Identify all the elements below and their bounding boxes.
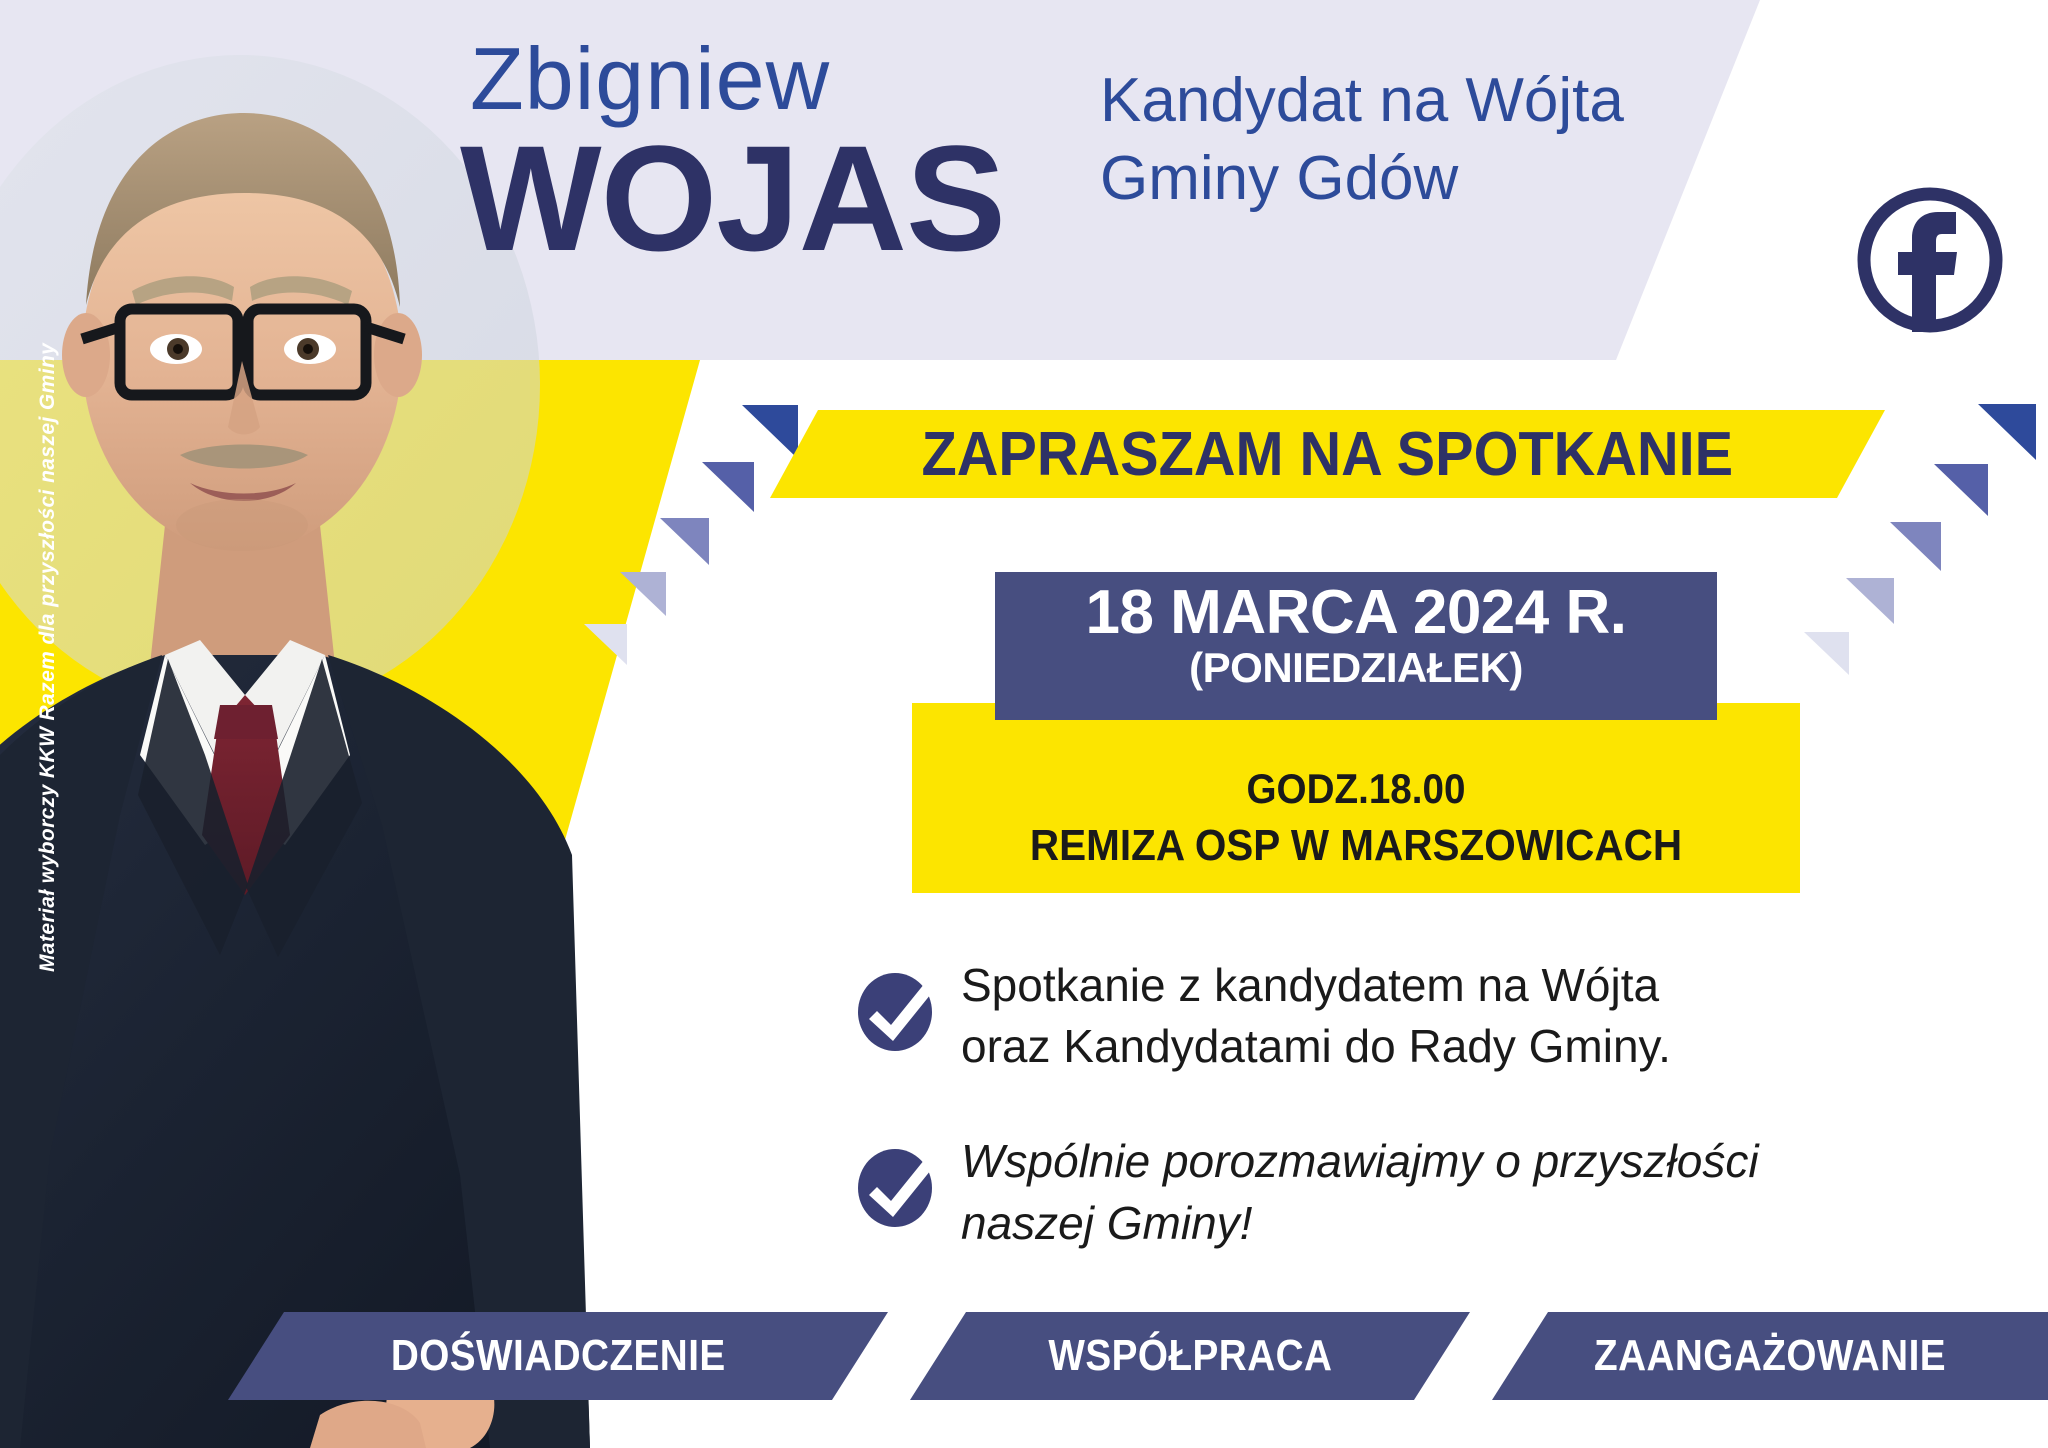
campaign-poster: Materiał wyborczy KKW Razem dla przyszło… xyxy=(0,0,2048,1448)
event-place: REMIZA OSP W MARSZOWICACH xyxy=(948,821,1765,871)
values-bar: DOŚWIADCZENIE WSPÓŁPRACA ZAANGAŻOWANIE xyxy=(0,1312,2048,1400)
decorative-triangle xyxy=(1978,404,2036,460)
decorative-triangle xyxy=(620,572,666,616)
list-item-line-2: oraz Kandydatami do Rady Gminy. xyxy=(961,1016,1671,1077)
decorative-triangle xyxy=(742,405,798,459)
check-circle-icon xyxy=(855,965,947,1051)
event-time: GODZ.18.00 xyxy=(948,765,1765,813)
invite-banner-label: ZAPRASZAM NA SPOTKANIE xyxy=(922,419,1734,490)
value-label: ZAANGAŻOWANIE xyxy=(1594,1331,1946,1381)
list-item-line-1: Spotkanie z kandydatem na Wójta xyxy=(961,955,1671,1016)
event-date: 18 MARCA 2024 R. xyxy=(995,580,1717,645)
candidate-role: Kandydat na Wójta Gminy Gdów xyxy=(1100,62,1624,217)
facebook-icon[interactable] xyxy=(1850,180,2010,340)
decorative-triangle xyxy=(1890,522,1941,571)
decorative-triangle xyxy=(584,624,627,665)
list-item: Spotkanie z kandydatem na Wójta oraz Kan… xyxy=(855,955,1975,1077)
list-item-text: Wspólnie porozmawiajmy o przyszłości nas… xyxy=(961,1131,1759,1253)
list-item-line-2: naszej Gminy! xyxy=(961,1193,1759,1254)
value-segment-experience: DOŚWIADCZENIE xyxy=(228,1312,888,1400)
role-line-1: Kandydat na Wójta xyxy=(1100,62,1624,140)
facebook-glyph xyxy=(1850,180,2010,340)
role-line-2: Gminy Gdów xyxy=(1100,140,1624,218)
list-item-line-1: Wspólnie porozmawiajmy o przyszłości xyxy=(961,1131,1759,1192)
bullet-list: Spotkanie z kandydatem na Wójta oraz Kan… xyxy=(855,955,1975,1308)
decorative-triangle xyxy=(660,518,709,565)
value-segment-commitment: ZAANGAŻOWANIE xyxy=(1492,1312,2048,1400)
decorative-triangle xyxy=(702,462,754,512)
value-segment-cooperation: WSPÓŁPRACA xyxy=(910,1312,1470,1400)
decorative-triangle xyxy=(1804,632,1849,675)
event-details-box: GODZ.18.00 REMIZA OSP W MARSZOWICACH xyxy=(912,703,1800,893)
check-circle-icon xyxy=(855,1141,947,1227)
event-weekday: (PONIEDZIAŁEK) xyxy=(995,645,1717,691)
list-item: Wspólnie porozmawiajmy o przyszłości nas… xyxy=(855,1131,1975,1253)
candidate-last-name: WOJAS xyxy=(460,120,1005,278)
decorative-triangle xyxy=(1846,578,1894,624)
invite-banner: ZAPRASZAM NA SPOTKANIE xyxy=(770,410,1885,498)
value-label: WSPÓŁPRACA xyxy=(1048,1331,1332,1381)
event-date-box: 18 MARCA 2024 R. (PONIEDZIAŁEK) xyxy=(995,572,1717,720)
value-label: DOŚWIADCZENIE xyxy=(391,1331,726,1381)
decorative-triangle xyxy=(1934,464,1988,516)
list-item-text: Spotkanie z kandydatem na Wójta oraz Kan… xyxy=(961,955,1671,1077)
